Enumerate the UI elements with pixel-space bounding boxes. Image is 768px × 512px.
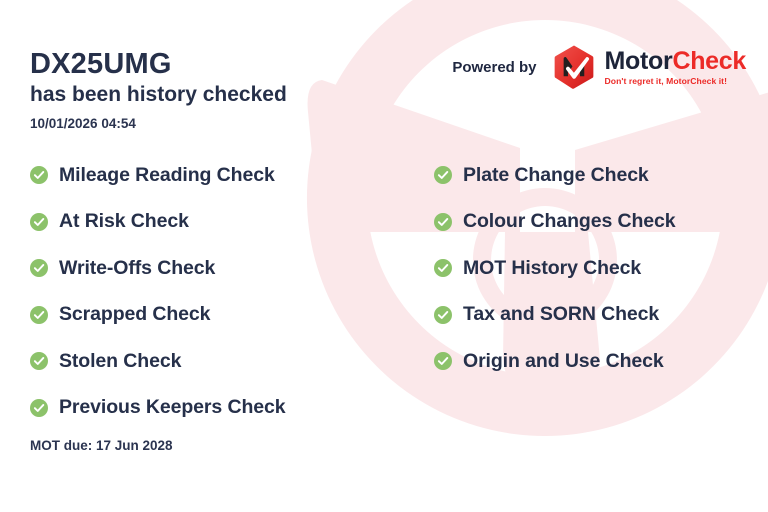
check-item-label: Origin and Use Check [463, 350, 664, 373]
green-check-circle-icon [30, 259, 48, 277]
green-check-circle-icon [434, 306, 452, 324]
green-check-circle-icon [30, 306, 48, 324]
motorcheck-hexagon-logo-icon [551, 44, 597, 90]
check-timestamp: 10/01/2026 04:54 [30, 116, 287, 131]
logo-word-motor: Motor [605, 47, 673, 75]
motorcheck-wordmark: MotorCheck Don't regret it, MotorCheck i… [605, 49, 746, 86]
card-header: DX25UMG has been history checked 10/01/2… [0, 0, 768, 140]
registration-plate: DX25UMG [30, 48, 287, 80]
green-check-circle-icon [434, 259, 452, 277]
vehicle-summary: DX25UMG has been history checked 10/01/2… [30, 48, 287, 131]
powered-by-block: Powered by [452, 44, 746, 90]
check-item-label: Scrapped Check [59, 303, 210, 326]
check-item-label: MOT History Check [463, 257, 641, 280]
checks-column-left: Mileage Reading Check At Risk Check Writ… [0, 152, 367, 431]
green-check-circle-icon [30, 399, 48, 417]
check-item-label: Plate Change Check [463, 164, 649, 187]
check-item-label: Tax and SORN Check [463, 303, 659, 326]
check-item[interactable]: Plate Change Check [434, 152, 768, 199]
green-check-circle-icon [434, 213, 452, 231]
check-item-label: Colour Changes Check [463, 210, 676, 233]
green-check-circle-icon [30, 166, 48, 184]
history-checked-status: has been history checked [30, 82, 287, 108]
check-item[interactable]: Mileage Reading Check [30, 152, 367, 199]
logo-word-check: Check [672, 47, 746, 75]
checks-grid: Mileage Reading Check At Risk Check Writ… [0, 152, 768, 431]
check-item-label: Write-Offs Check [59, 257, 215, 280]
powered-by-label: Powered by [452, 59, 536, 76]
logo-tagline: Don't regret it, MotorCheck it! [605, 77, 746, 86]
check-item[interactable]: Colour Changes Check [434, 199, 768, 246]
check-item[interactable]: Write-Offs Check [30, 245, 367, 292]
check-item-label: Mileage Reading Check [59, 164, 275, 187]
check-item[interactable]: At Risk Check [30, 199, 367, 246]
checks-column-right: Plate Change Check Colour Changes Check … [367, 152, 768, 431]
check-item[interactable]: Previous Keepers Check [30, 385, 367, 432]
motorcheck-logo[interactable]: MotorCheck Don't regret it, MotorCheck i… [551, 44, 746, 90]
check-item[interactable]: Tax and SORN Check [434, 292, 768, 339]
logo-wordmark-line: MotorCheck [605, 49, 746, 74]
vehicle-history-check-card: DX25UMG has been history checked 10/01/2… [0, 0, 768, 512]
green-check-circle-icon [30, 352, 48, 370]
green-check-circle-icon [30, 213, 48, 231]
mot-due-text: MOT due: 17 Jun 2028 [30, 438, 173, 453]
check-item[interactable]: Origin and Use Check [434, 338, 768, 385]
green-check-circle-icon [434, 166, 452, 184]
check-item[interactable]: Stolen Check [30, 338, 367, 385]
check-item[interactable]: MOT History Check [434, 245, 768, 292]
check-item-label: At Risk Check [59, 210, 189, 233]
check-item-label: Stolen Check [59, 350, 181, 373]
check-item-label: Previous Keepers Check [59, 396, 286, 419]
green-check-circle-icon [434, 352, 452, 370]
check-item[interactable]: Scrapped Check [30, 292, 367, 339]
